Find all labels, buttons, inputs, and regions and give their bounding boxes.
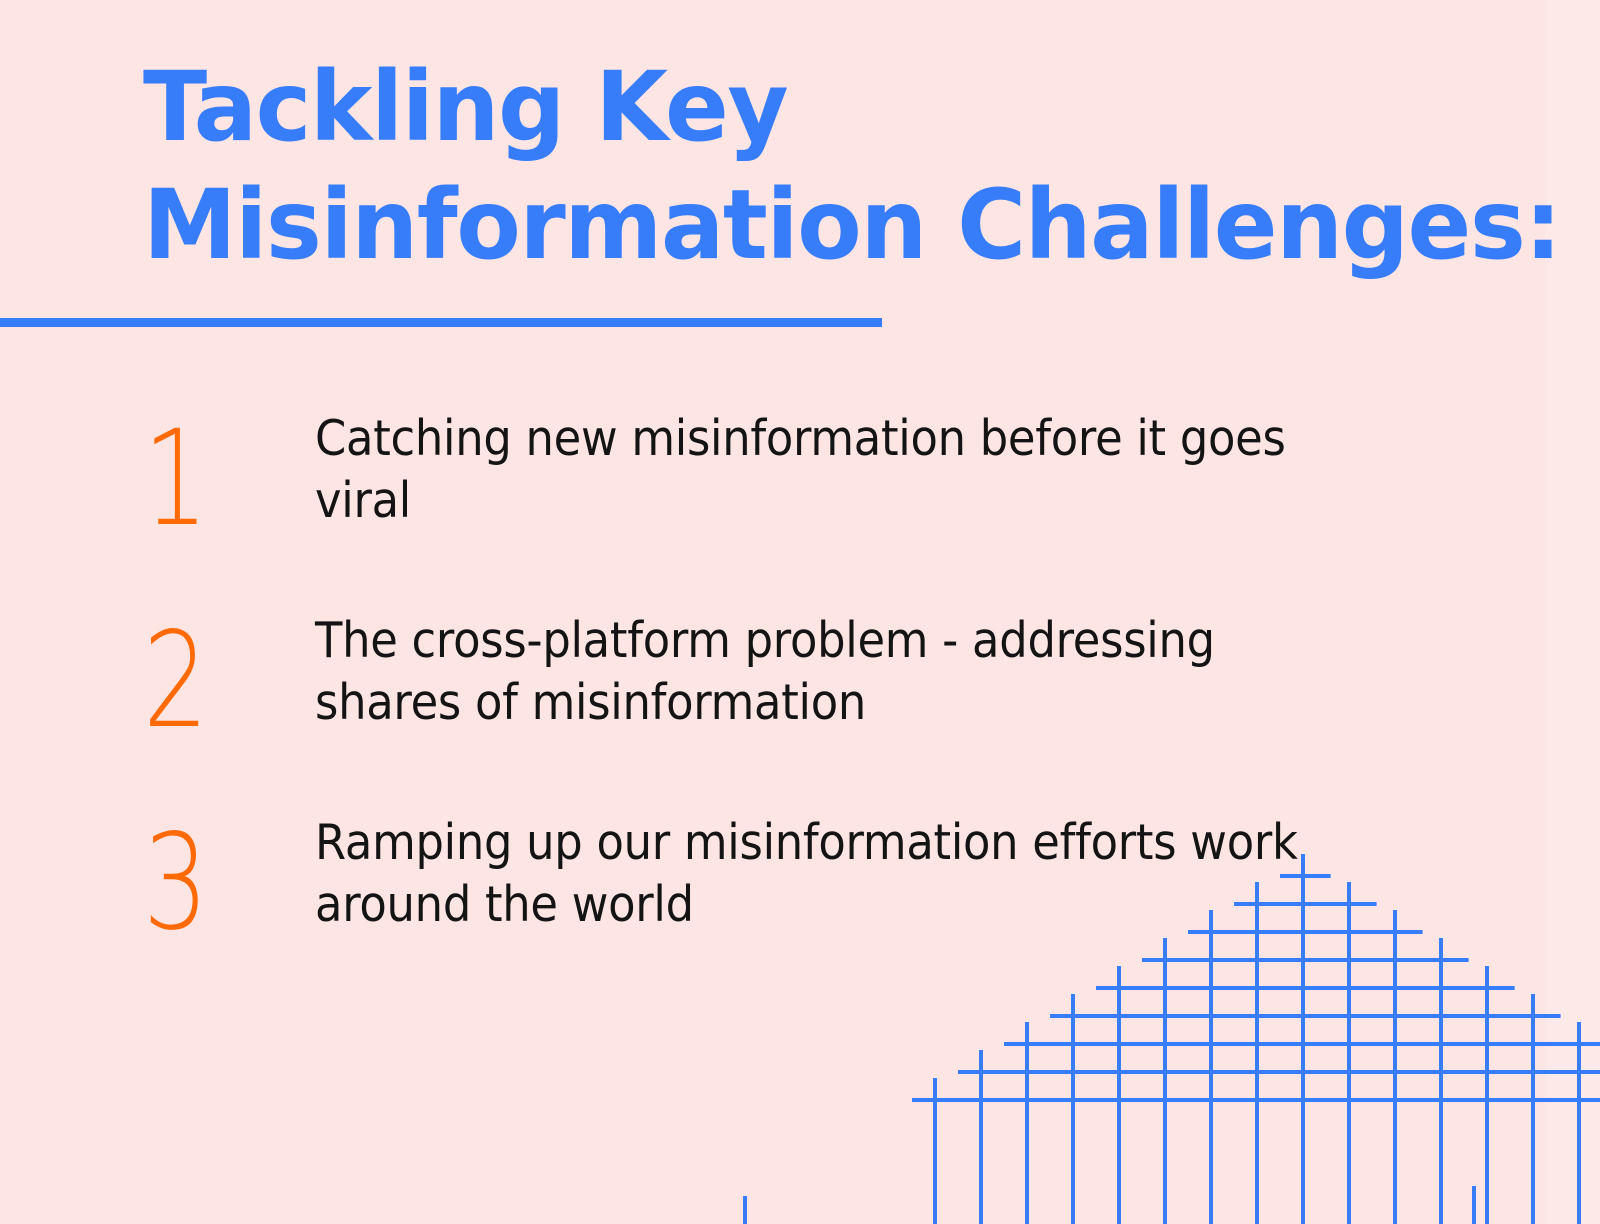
slide-root: Tackling Key Misinformation Challenges: … (0, 0, 1600, 1224)
page-title-line-1: Tackling Key (143, 48, 1456, 166)
page-title: Tackling Key Misinformation Challenges: (143, 48, 1483, 284)
list-item-text: Ramping up our misinformation efforts wo… (315, 812, 1365, 936)
list-item: 1 Catching new misinformation before it … (143, 408, 1463, 544)
challenges-list: 1 Catching new misinformation before it … (143, 408, 1463, 1014)
list-item: 2 The cross-platform problem - addressin… (143, 610, 1463, 746)
list-item-number: 3 (143, 818, 277, 948)
title-underline-rule (0, 318, 882, 327)
list-item: 3 Ramping up our misinformation efforts … (143, 812, 1463, 948)
list-item-number: 1 (143, 414, 277, 544)
page-title-line-2: Misinformation Challenges: (143, 166, 1456, 284)
list-item-text: Catching new misinformation before it go… (315, 408, 1365, 532)
list-item-text: The cross-platform problem - addressing … (315, 610, 1365, 734)
list-item-number: 2 (143, 616, 277, 746)
